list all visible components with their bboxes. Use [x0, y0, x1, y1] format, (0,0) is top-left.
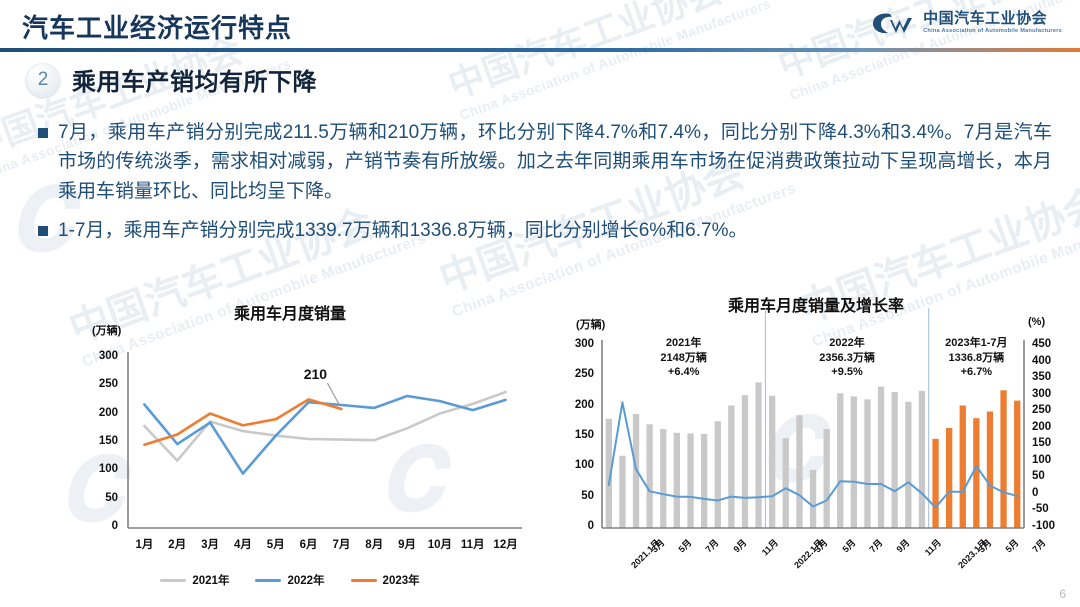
header-divider	[0, 48, 1080, 52]
legend-swatch	[255, 579, 281, 582]
legend-label: 2021年	[192, 572, 229, 588]
chart-legend: 2021年2022年2023年	[40, 572, 540, 588]
legend-label: 2022年	[287, 572, 324, 588]
page-number: 6	[1059, 587, 1066, 601]
bullet-item: 1-7月，乘用车产销分别完成1339.7万辆和1336.8万辆，同比分别增长6%…	[38, 216, 1052, 245]
legend-swatch	[351, 579, 377, 582]
bullet-square-icon	[38, 128, 48, 138]
page-header: 汽车工业经济运行特点 中国汽车工业协会 China Association of…	[0, 0, 1080, 56]
brand-logo: 中国汽车工业协会 China Association of Automobile…	[870, 8, 1062, 38]
bullet-text: 7月，乘用车产销分别完成211.5万辆和210万辆，环比分别下降4.7%和7.4…	[58, 118, 1052, 206]
bullet-item: 7月，乘用车产销分别完成211.5万辆和210万辆，环比分别下降4.7%和7.4…	[38, 118, 1052, 206]
section-heading: 2 乘用车产销均有所下降	[26, 62, 317, 97]
legend-item: 2021年	[160, 572, 229, 588]
plot-area	[560, 292, 1072, 554]
chart-monthly-sales: 乘用车月度销量 (万辆) 050100150200250300 1月2月3月4月…	[40, 300, 540, 600]
legend-label: 2023年	[383, 572, 420, 588]
legend-item: 2022年	[255, 572, 324, 588]
bullet-square-icon	[38, 226, 48, 236]
svg-text:210: 210	[304, 366, 328, 382]
page-title: 汽车工业经济运行特点	[22, 8, 292, 45]
bullet-text: 1-7月，乘用车产销分别完成1339.7万辆和1336.8万辆，同比分别增长6%…	[58, 216, 747, 245]
chart-monthly-sales-growth: 乘用车月度销量及增长率 (万辆) (%) 050100150200250300 …	[560, 292, 1072, 600]
caam-logo-icon	[870, 8, 916, 38]
legend-swatch	[160, 579, 186, 582]
brand-name-cn: 中国汽车工业协会	[923, 11, 1062, 27]
plot-area: 210	[40, 300, 540, 580]
legend-item: 2023年	[351, 572, 420, 588]
bullet-list: 7月，乘用车产销分别完成211.5万辆和210万辆，环比分别下降4.7%和7.4…	[38, 118, 1052, 256]
brand-name-en: China Association of Automobile Manufact…	[923, 29, 1062, 35]
brand-text: 中国汽车工业协会 China Association of Automobile…	[923, 11, 1062, 35]
section-number-badge: 2	[26, 63, 60, 97]
section-title: 乘用车产销均有所下降	[72, 62, 317, 97]
